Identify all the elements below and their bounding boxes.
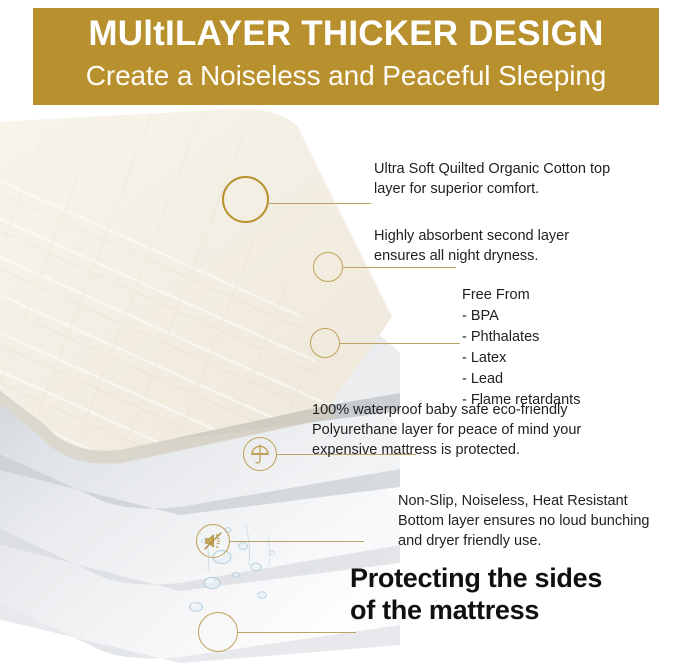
callout-ring-non-slip[interactable] — [196, 524, 230, 558]
callout-ring-free-from[interactable] — [310, 328, 340, 358]
free-from-item-lead: - Lead — [462, 369, 672, 390]
callout-ring-side-protection[interactable] — [198, 612, 238, 652]
umbrella-icon — [249, 443, 271, 465]
callout-text-absorbent-layer: Highly absorbent second layer ensures al… — [374, 226, 674, 266]
callout-text-cotton-top: Ultra Soft Quilted Organic Cotton top la… — [374, 159, 674, 199]
free-from-item-bpa: - BPA — [462, 306, 672, 327]
callout-ring-cotton-top[interactable] — [222, 176, 269, 223]
callout-text-non-slip: Non-Slip, Noiseless, Heat Resistant Bott… — [398, 491, 679, 551]
leader-line-absorbent-layer — [342, 267, 456, 268]
mattress-layers-illustration — [0, 105, 400, 663]
leader-line-cotton-top — [268, 203, 371, 204]
callout-text-free-from: Free From - BPA - Phthalates - Latex - L… — [462, 285, 672, 411]
free-from-item-phthalates: - Phthalates — [462, 327, 672, 348]
callout-ring-absorbent-layer[interactable] — [313, 252, 343, 282]
callout-ring-waterproof[interactable] — [243, 437, 277, 471]
header-banner: MUltILAYER THICKER DESIGN Create a Noise… — [33, 8, 659, 105]
free-from-item-latex: - Latex — [462, 348, 672, 369]
callout-text-side-protection: Protecting the sides of the mattress — [350, 562, 670, 626]
banner-title: MUltILAYER THICKER DESIGN — [43, 12, 649, 56]
infographic-page: MUltILAYER THICKER DESIGN Create a Noise… — [0, 0, 679, 663]
mute-speaker-icon — [202, 530, 224, 552]
leader-line-free-from — [339, 343, 460, 344]
leader-line-side-protection — [237, 632, 356, 633]
leader-line-non-slip — [229, 541, 364, 542]
callout-text-waterproof: 100% waterproof baby safe eco-friendly P… — [312, 400, 642, 460]
free-from-heading: Free From — [462, 285, 672, 306]
banner-subtitle: Create a Noiseless and Peaceful Sleeping — [43, 56, 649, 96]
